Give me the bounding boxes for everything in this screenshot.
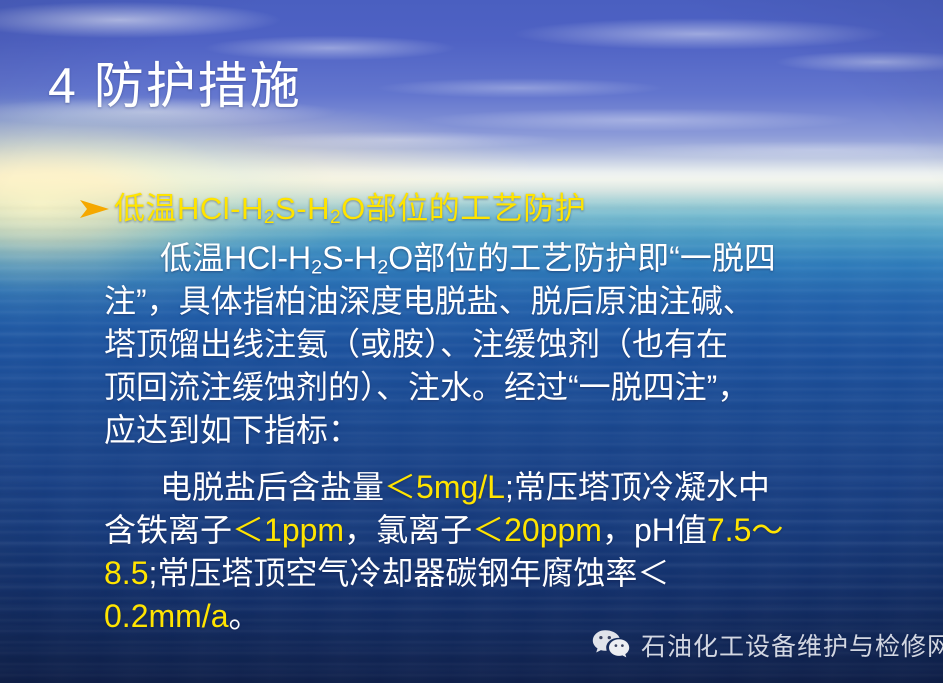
bullet-subscript-1: 2	[264, 207, 275, 228]
body-paragraph-2: 电脱盐后含盐量＜5mg/L;常压塔顶冷凝水中 含铁离子＜1ppm，氯离子＜20p…	[104, 466, 934, 638]
p2l2-highlight-ph-low: 7.5～	[707, 512, 784, 548]
paragraph-1-line-1: 低温HCl-H2S-H2O部位的工艺防护即“一脱四	[104, 237, 934, 280]
paragraph-1-line-5: 应达到如下指标：	[104, 409, 934, 452]
body-paragraph-1: 低温HCl-H2S-H2O部位的工艺防护即“一脱四 注”，具体指柏油深度电脱盐、…	[104, 237, 934, 452]
p2l4-highlight-corrosion-rate: 0.2mm/a	[104, 598, 228, 634]
bullet-text-suffix: O部位的工艺防护	[341, 191, 586, 226]
paragraph-1-line-3: 塔顶馏出线注氨（或胺）、注缓蚀剂（也有在	[104, 323, 934, 366]
p1l1-subscript-1: 2	[311, 256, 322, 278]
p1l1-subscript-2: 2	[377, 256, 388, 278]
p2l1-part-a: 电脱盐后含盐量	[160, 469, 384, 505]
paragraph-1-line-4: 顶回流注缓蚀剂的）、注水。经过“一脱四注”，	[104, 366, 934, 409]
p2l2-highlight-chloride-limit: ＜20ppm	[472, 512, 602, 548]
arrow-bullet-icon	[78, 194, 112, 224]
paragraph-1-line-2: 注”，具体指柏油深度电脱盐、脱后原油注碱、	[104, 280, 934, 323]
paragraph-2-line-2: 含铁离子＜1ppm，氯离子＜20ppm，pH值7.5～	[104, 509, 934, 552]
p2l2-highlight-iron-limit: ＜1ppm	[232, 512, 344, 548]
wechat-icon	[592, 629, 630, 661]
p2l2-part-c: ，pH值	[602, 512, 707, 548]
paragraph-2-line-3: 8.5;常压塔顶空气冷却器碳钢年腐蚀率＜	[104, 552, 934, 595]
watermark-text: 石油化工设备维护与检修网	[641, 627, 943, 663]
slide-content: 4 防护措施 低温HCl-H2S-H2O部位的工艺防护 低温HCl-H2S-H2…	[0, 0, 943, 683]
p2l1-part-b: ;常压塔顶冷凝水中	[505, 469, 770, 505]
p2l2-part-a: 含铁离子	[104, 512, 232, 548]
bullet-subscript-2: 2	[330, 207, 341, 228]
watermark: 石油化工设备维护与检修网	[592, 627, 943, 663]
paragraph-2-line-1: 电脱盐后含盐量＜5mg/L;常压塔顶冷凝水中	[104, 466, 934, 509]
p2l3-part-b: ;常压塔顶空气冷却器碳钢年腐蚀率＜	[148, 555, 669, 591]
p2l4-part-b: 。	[228, 598, 260, 634]
p2l2-part-b: ，氯离子	[344, 512, 472, 548]
p2l3-highlight-ph-high: 8.5	[104, 555, 148, 591]
bullet-heading-text: 低温HCl-H2S-H2O部位的工艺防护	[114, 193, 586, 224]
presentation-slide: 4 防护措施 低温HCl-H2S-H2O部位的工艺防护 低温HCl-H2S-H2…	[0, 0, 943, 683]
bullet-text-prefix: 低温HCl-H	[114, 191, 264, 226]
p1l1-part-c: O部位的工艺防护即“一脱四	[388, 240, 776, 276]
bullet-heading: 低温HCl-H2S-H2O部位的工艺防护	[78, 193, 586, 224]
p1l1-part-b: S-H	[322, 240, 377, 276]
p2l1-highlight-salt-limit: ＜5mg/L	[384, 469, 505, 505]
bullet-text-mid: S-H	[275, 191, 330, 226]
p1l1-part-a: 低温HCl-H	[160, 240, 311, 276]
slide-title: 4 防护措施	[48, 46, 302, 118]
